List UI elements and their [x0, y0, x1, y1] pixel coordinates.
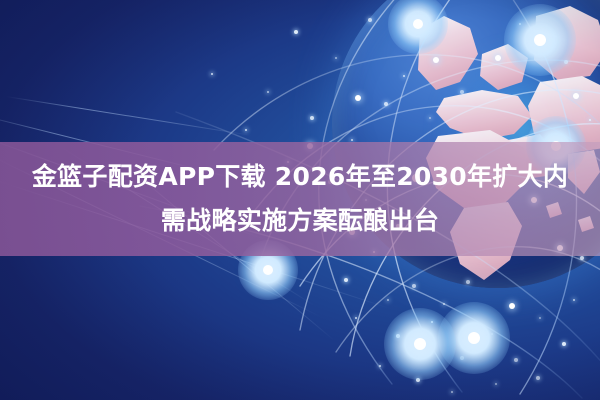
- network-node: [263, 265, 273, 275]
- particle-dot: [573, 299, 575, 301]
- caption-line-1: 金篮子配资APP下载 2026年至2030年扩大内: [32, 155, 568, 199]
- caption-band: 金篮子配资APP下载 2026年至2030年扩大内 需战略实施方案酝酿出台: [0, 142, 600, 256]
- network-node: [468, 332, 480, 344]
- particle-dot: [431, 321, 433, 323]
- network-node: [509, 303, 515, 309]
- particle-dot: [514, 358, 518, 362]
- particle-dot: [294, 30, 298, 34]
- particle-dot: [379, 365, 381, 367]
- particle-dot: [451, 391, 453, 393]
- caption-line-2: 需战略实施方案酝酿出台: [161, 199, 439, 243]
- particle-dot: [211, 73, 213, 75]
- network-node: [414, 338, 426, 350]
- particle-dot: [539, 317, 541, 319]
- particle-dot: [396, 334, 400, 338]
- particle-dot: [562, 342, 566, 346]
- light-streak: [6, 96, 253, 136]
- particle-dot: [495, 383, 497, 385]
- particle-dot: [460, 356, 464, 360]
- network-node-glow: [438, 302, 510, 374]
- network-node-glow: [384, 308, 456, 380]
- particle-dot: [491, 333, 493, 335]
- particle-dot: [310, 116, 314, 120]
- particle-dot: [267, 91, 269, 93]
- particle-dot: [416, 378, 420, 382]
- particle-dot: [387, 299, 389, 301]
- cover-image: 金篮子配资APP下载 2026年至2030年扩大内 需战略实施方案酝酿出台: [0, 0, 600, 400]
- particle-dot: [355, 317, 357, 319]
- particle-dot: [536, 376, 540, 380]
- particle-dot: [245, 129, 247, 131]
- particle-dot: [443, 303, 445, 305]
